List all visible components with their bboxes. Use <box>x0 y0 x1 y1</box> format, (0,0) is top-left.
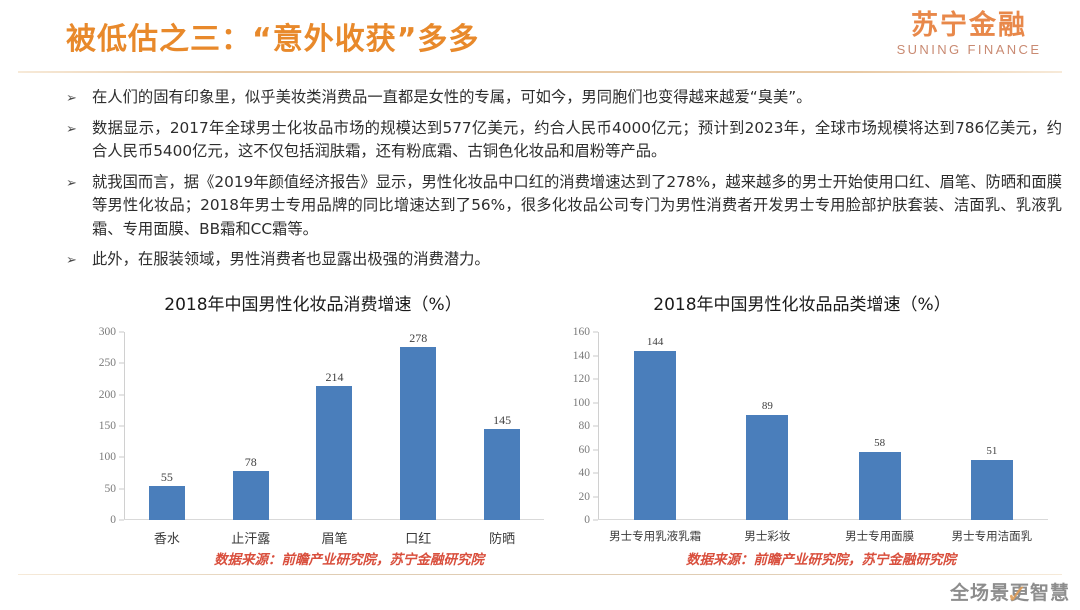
bullet-text: 就我国而言，据《2019年颜值经济报告》显示，男性化妆品中口红的消费增速达到了2… <box>92 171 1062 242</box>
bar-column: 144 <box>599 332 711 520</box>
x-axis-category-label: 男士彩妆 <box>711 528 823 544</box>
bullet-text: 数据显示，2017年全球男士化妆品市场的规模达到577亿美元，约合人民币4000… <box>92 117 1062 164</box>
y-axis-tick-label: 200 <box>99 389 116 401</box>
bar-column: 55 <box>125 332 209 520</box>
bar-series: 5578214278145 <box>125 332 544 520</box>
bullet-item: ➢此外，在服装领域，男性消费者也显露出极强的消费潜力。 <box>62 248 1062 272</box>
bar-value-label: 214 <box>325 371 343 383</box>
bar-column: 145 <box>460 332 544 520</box>
bar-value-label: 89 <box>762 401 773 412</box>
bar <box>316 386 352 520</box>
chart-title: 2018年中国男性化妆品消费增速（%） <box>78 292 548 322</box>
x-axis-category-label: 香水 <box>125 528 209 547</box>
bar-chart-category-growth: 020406080100120140160 144895851 男士专用乳液乳霜… <box>552 322 1052 554</box>
check-icon: ✓ <box>1006 580 1029 610</box>
arrow-bullet-icon: ➢ <box>62 171 92 194</box>
bar-value-label: 78 <box>245 456 257 468</box>
x-axis-category-label: 男士专用乳液乳霜 <box>599 528 711 544</box>
bar <box>484 429 520 520</box>
y-axis-tick-label: 150 <box>99 420 116 432</box>
bullet-item: ➢在人们的固有印象里，似乎美妆类消费品一直都是女性的专属，可如今，男同胞们也变得… <box>62 86 1062 110</box>
bar-column: 58 <box>824 332 936 520</box>
watermark: 全场景更智慧 ✓ <box>950 578 1070 605</box>
bar <box>971 460 1013 520</box>
slide-header: 被低估之三：“意外收获”多多 苏宁金融 SUNING FINANCE <box>0 0 1080 73</box>
bar <box>400 347 436 520</box>
bullet-list: ➢在人们的固有印象里，似乎美妆类消费品一直都是女性的专属，可如今，男同胞们也变得… <box>62 86 1062 279</box>
y-axis-tick-label: 100 <box>99 451 116 463</box>
bar-column: 89 <box>711 332 823 520</box>
page-title: 被低估之三：“意外收获”多多 <box>66 14 479 58</box>
y-axis: 050100150200250300 <box>78 332 124 520</box>
logo-chinese-text: 苏宁金融 <box>884 12 1054 40</box>
x-axis-category-label: 男士专用面膜 <box>824 528 936 544</box>
bar <box>746 415 788 520</box>
y-axis-tick-label: 50 <box>105 483 117 495</box>
chart-title: 2018年中国男性化妆品品类增速（%） <box>552 292 1052 322</box>
bar <box>634 351 676 520</box>
bar-value-label: 145 <box>493 414 511 426</box>
x-axis-category-label: 止汗露 <box>209 528 293 547</box>
header-divider <box>18 71 1062 73</box>
y-axis-tick-label: 80 <box>579 420 591 432</box>
x-axis-category-label: 男士专用洁面乳 <box>936 528 1048 544</box>
suning-finance-logo: 苏宁金融 SUNING FINANCE <box>884 12 1054 57</box>
bar-value-label: 58 <box>874 438 885 449</box>
arrow-bullet-icon: ➢ <box>62 248 92 271</box>
y-axis-tick-label: 0 <box>584 514 590 526</box>
chart-panel-consumption-growth: 2018年中国男性化妆品消费增速（%） 050100150200250300 5… <box>78 292 548 582</box>
bar-column: 278 <box>376 332 460 520</box>
source-note-left: 数据来源：前瞻产业研究院，苏宁金融研究院 <box>214 548 484 568</box>
y-axis-tick-label: 0 <box>110 514 116 526</box>
bar <box>859 452 901 520</box>
source-note-right: 数据来源：前瞻产业研究院，苏宁金融研究院 <box>686 548 956 568</box>
bar-column: 78 <box>209 332 293 520</box>
bar <box>233 471 269 520</box>
bullet-item: ➢数据显示，2017年全球男士化妆品市场的规模达到577亿美元，约合人民币400… <box>62 117 1062 164</box>
logo-english-text: SUNING FINANCE <box>884 42 1054 57</box>
x-axis-category-label: 防晒 <box>460 528 544 547</box>
bar-column: 51 <box>936 332 1048 520</box>
bar-value-label: 51 <box>986 446 997 457</box>
bullet-item: ➢就我国而言，据《2019年颜值经济报告》显示，男性化妆品中口红的消费增速达到了… <box>62 171 1062 242</box>
bar-series: 144895851 <box>599 332 1048 520</box>
y-axis-tick-label: 100 <box>573 397 590 409</box>
chart-panel-category-growth: 2018年中国男性化妆品品类增速（%） 02040608010012014016… <box>552 292 1052 582</box>
y-axis-tick-label: 140 <box>573 350 590 362</box>
y-axis: 020406080100120140160 <box>552 332 598 520</box>
bar-value-label: 278 <box>409 332 427 344</box>
x-axis-category-label: 口红 <box>376 528 460 547</box>
arrow-bullet-icon: ➢ <box>62 86 92 109</box>
footer-divider <box>18 574 1062 575</box>
y-axis-tick-label: 300 <box>99 326 116 338</box>
y-axis-tick-label: 160 <box>573 326 590 338</box>
bullet-text: 在人们的固有印象里，似乎美妆类消费品一直都是女性的专属，可如今，男同胞们也变得越… <box>92 86 1062 110</box>
bar-value-label: 144 <box>647 337 664 348</box>
bar <box>149 486 185 520</box>
bar-chart-consumption-growth: 050100150200250300 5578214278145 香水止汗露眉笔… <box>78 322 548 554</box>
bullet-text: 此外，在服装领域，男性消费者也显露出极强的消费潜力。 <box>92 248 1062 272</box>
y-axis-tick-label: 40 <box>579 467 591 479</box>
arrow-bullet-icon: ➢ <box>62 117 92 140</box>
x-axis-category-label: 眉笔 <box>293 528 377 547</box>
y-axis-tick-label: 60 <box>579 444 591 456</box>
y-axis-tick-label: 120 <box>573 373 590 385</box>
y-axis-tick-label: 250 <box>99 357 116 369</box>
y-axis-tick-label: 20 <box>579 491 591 503</box>
charts-area: 2018年中国男性化妆品消费增速（%） 050100150200250300 5… <box>0 292 1080 582</box>
bar-column: 214 <box>293 332 377 520</box>
bar-value-label: 55 <box>161 471 173 483</box>
